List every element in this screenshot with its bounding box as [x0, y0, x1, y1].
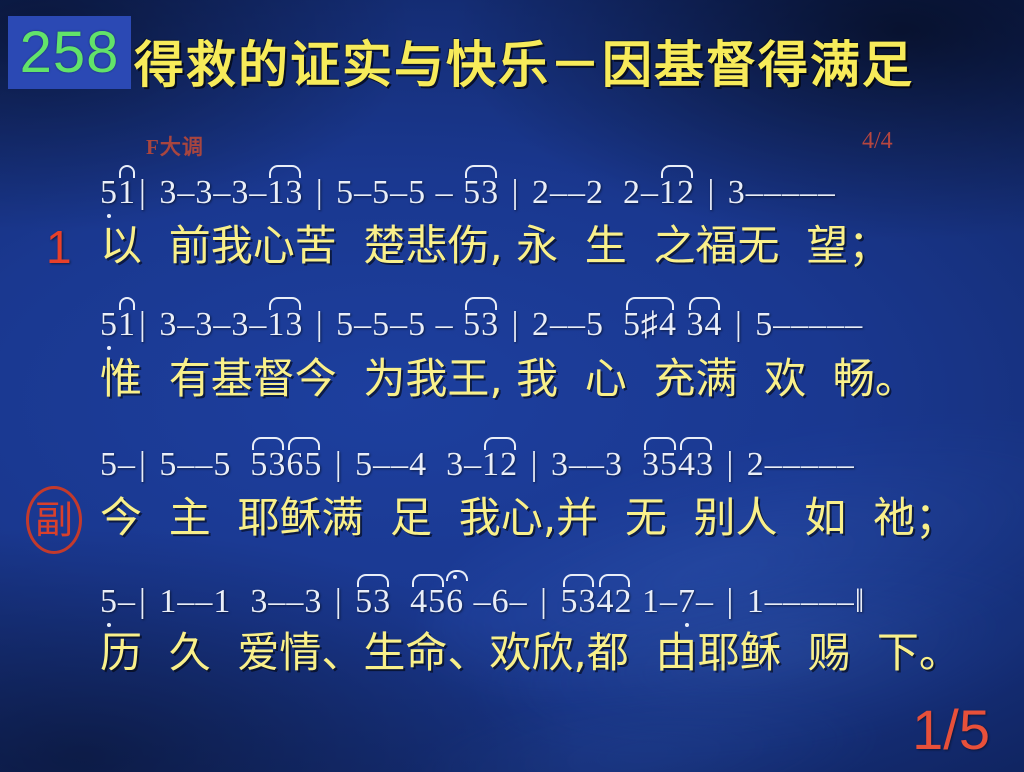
notation-line-4: 5–| 1––1 3––3 | 53 456 –6– | 5342 1–7– |… — [100, 585, 865, 619]
hymn-slide: 258 得救的证实与快乐－因基督得满足 F大调 4/4 1 51| 3–3–3–… — [0, 0, 1024, 772]
hymn-number-badge: 258 — [8, 16, 131, 89]
hymn-number-text: 258 — [20, 24, 120, 82]
verse-number-1: 1 — [46, 224, 72, 270]
page-indicator: 1/5 — [912, 702, 990, 758]
chorus-marker-label: 副 — [35, 501, 73, 539]
notation-line-1: 51| 3–3–3–13 | 5–5–5 – 53 | 2––2 2–12 | … — [100, 176, 836, 210]
notation-line-2: 51| 3–3–3–13 | 5–5–5 – 53 | 2––5 5♯4 34 … — [100, 308, 863, 342]
time-signature: 4/4 — [862, 128, 893, 155]
notation-line-3: 5–| 5––5 5365 | 5––4 3–12 | 3––3 3543 | … — [100, 448, 855, 482]
page-title: 得救的证实与快乐－因基督得满足 — [134, 38, 924, 93]
background-swirl-lower — [379, 668, 908, 772]
lyrics-line-2: 惟 有基督今 为我王, 我 心 充满 欢 畅。 — [100, 358, 917, 400]
key-signature: F大调 — [146, 131, 204, 161]
lyrics-line-1: 以 前我心苦 楚悲伤, 永 生 之福无 望； — [100, 225, 890, 267]
chorus-marker: 副 — [26, 486, 82, 554]
lyrics-line-4: 历 久 爱情、生命、欢欣,都 由耶稣 赐 下。 — [100, 632, 961, 674]
lyrics-line-3: 今 主 耶稣满 足 我心,并 无 别人 如 祂； — [100, 497, 957, 539]
